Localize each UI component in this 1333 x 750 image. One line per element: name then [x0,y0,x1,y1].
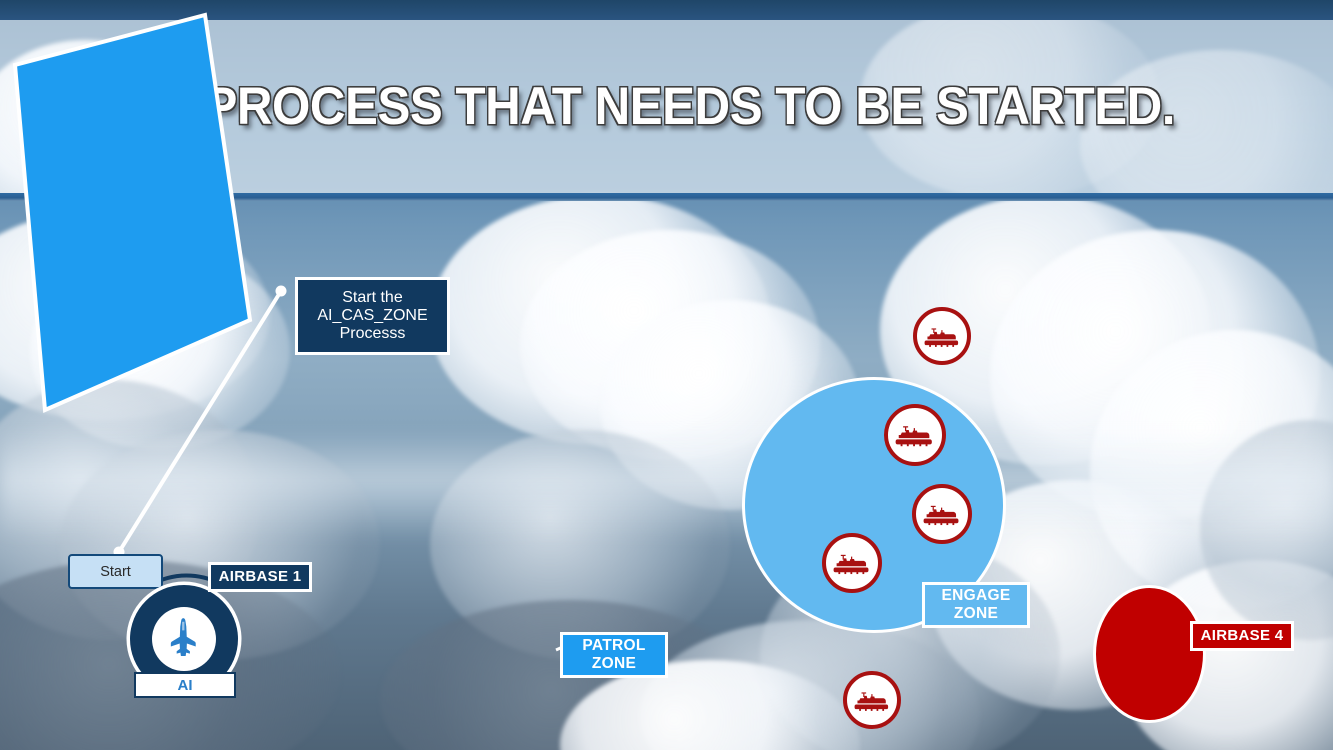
fighter-jet-icon [161,616,207,662]
airbase-4-node[interactable] [1093,585,1206,723]
engage-zone-label-line-1: ENGAGE [942,587,1011,604]
airbase-4-label-text: AIRBASE 4 [1201,627,1284,644]
enemy-tank-4[interactable] [822,533,882,593]
patrol-zone-label-line-1: PATROL [582,637,645,654]
engage-zone-label[interactable]: ENGAGE ZONE [922,582,1030,628]
callout-line-3: Processs [340,325,406,342]
callout-line-2: AI_CAS_ZONE [317,307,427,324]
airbase-1-label[interactable]: AIRBASE 1 [208,562,312,592]
slide-canvas: A PROCESS THAT NEEDS TO BE STARTED. Star… [0,0,1333,750]
enemy-tank-5[interactable] [843,671,901,729]
patrol-zone-label[interactable]: PATROL ZONE [560,632,668,678]
airbase-1-unit-text: AI [178,677,193,694]
enemy-tank-3[interactable] [912,484,972,544]
start-button[interactable]: Start [68,554,163,589]
callout-line-1: Start the [342,289,402,306]
patrol-zone-shape[interactable] [0,0,270,425]
patrol-zone-label-line-2: ZONE [592,655,636,672]
tank-icon [924,318,961,355]
airbase-1-icon-disc [152,607,216,671]
enemy-tank-1[interactable] [913,307,971,365]
tank-icon [854,682,891,719]
patrol-zone-polygon[interactable] [15,15,250,410]
airbase-1-unit-label[interactable]: AI [134,672,236,698]
airbase-1-label-text: AIRBASE 1 [219,568,302,585]
airbase-4-label[interactable]: AIRBASE 4 [1190,621,1294,651]
enemy-tank-2[interactable] [884,404,946,466]
engage-zone-label-line-2: ZONE [954,605,998,622]
start-button-label: Start [100,564,131,580]
callout-start-ai-cas-zone-process[interactable]: Start the AI_CAS_ZONE Processs [295,277,450,355]
tank-icon [923,495,961,533]
tank-icon [895,415,935,455]
tank-icon [833,544,871,582]
